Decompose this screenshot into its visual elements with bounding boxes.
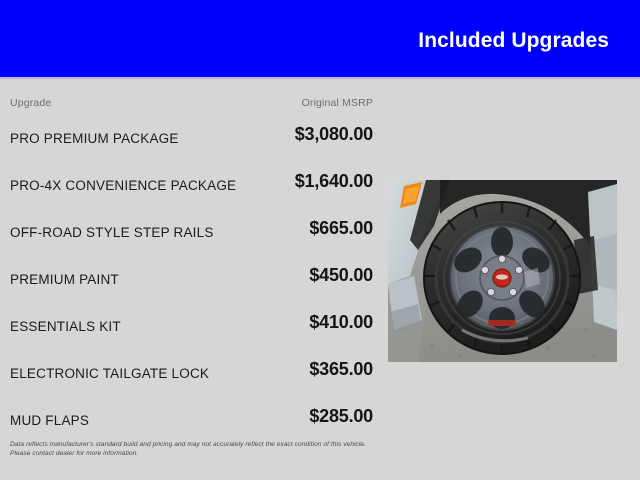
upgrade-price: $410.00 — [309, 312, 373, 333]
table-row: ESSENTIALS KIT $410.00 — [0, 312, 380, 359]
vehicle-wheel-photo — [388, 180, 617, 362]
upgrade-price: $285.00 — [309, 406, 373, 427]
disclaimer-text: Data reflects manufacturer's standard bu… — [10, 440, 390, 458]
upgrade-price: $3,080.00 — [295, 124, 373, 145]
disclaimer-line-2: Please contact dealer for more informati… — [10, 449, 390, 458]
table-row: PREMIUM PAINT $450.00 — [0, 265, 380, 312]
upgrade-name: ESSENTIALS KIT — [10, 319, 121, 334]
table-row: PRO-4X CONVENIENCE PACKAGE $1,640.00 — [0, 171, 380, 218]
table-row: ELECTRONIC TAILGATE LOCK $365.00 — [0, 359, 380, 406]
upgrade-name: MUD FLAPS — [10, 413, 89, 428]
disclaimer-line-1: Data reflects manufacturer's standard bu… — [10, 440, 390, 449]
upgrades-page: Included Upgrades Upgrade Original MSRP … — [0, 0, 640, 480]
upgrade-name: OFF-ROAD STYLE STEP RAILS — [10, 225, 214, 240]
table-row: PRO PREMIUM PACKAGE $3,080.00 — [0, 124, 380, 171]
table-row: OFF-ROAD STYLE STEP RAILS $665.00 — [0, 218, 380, 265]
column-header-msrp: Original MSRP — [0, 97, 380, 109]
upgrade-price: $665.00 — [309, 218, 373, 239]
upgrade-name: PRO-4X CONVENIENCE PACKAGE — [10, 178, 236, 193]
upgrade-price: $1,640.00 — [295, 171, 373, 192]
upgrade-name: PREMIUM PAINT — [10, 272, 119, 287]
table-rows: PRO PREMIUM PACKAGE $3,080.00 PRO-4X CON… — [0, 124, 380, 453]
page-title: Included Upgrades — [418, 29, 609, 53]
upgrade-name: ELECTRONIC TAILGATE LOCK — [10, 366, 209, 381]
upgrade-price: $365.00 — [309, 359, 373, 380]
upgrade-price: $450.00 — [309, 265, 373, 286]
table-column-headers: Upgrade Original MSRP — [0, 97, 380, 113]
header-banner: Included Upgrades — [0, 0, 640, 77]
upgrade-name: PRO PREMIUM PACKAGE — [10, 131, 179, 146]
